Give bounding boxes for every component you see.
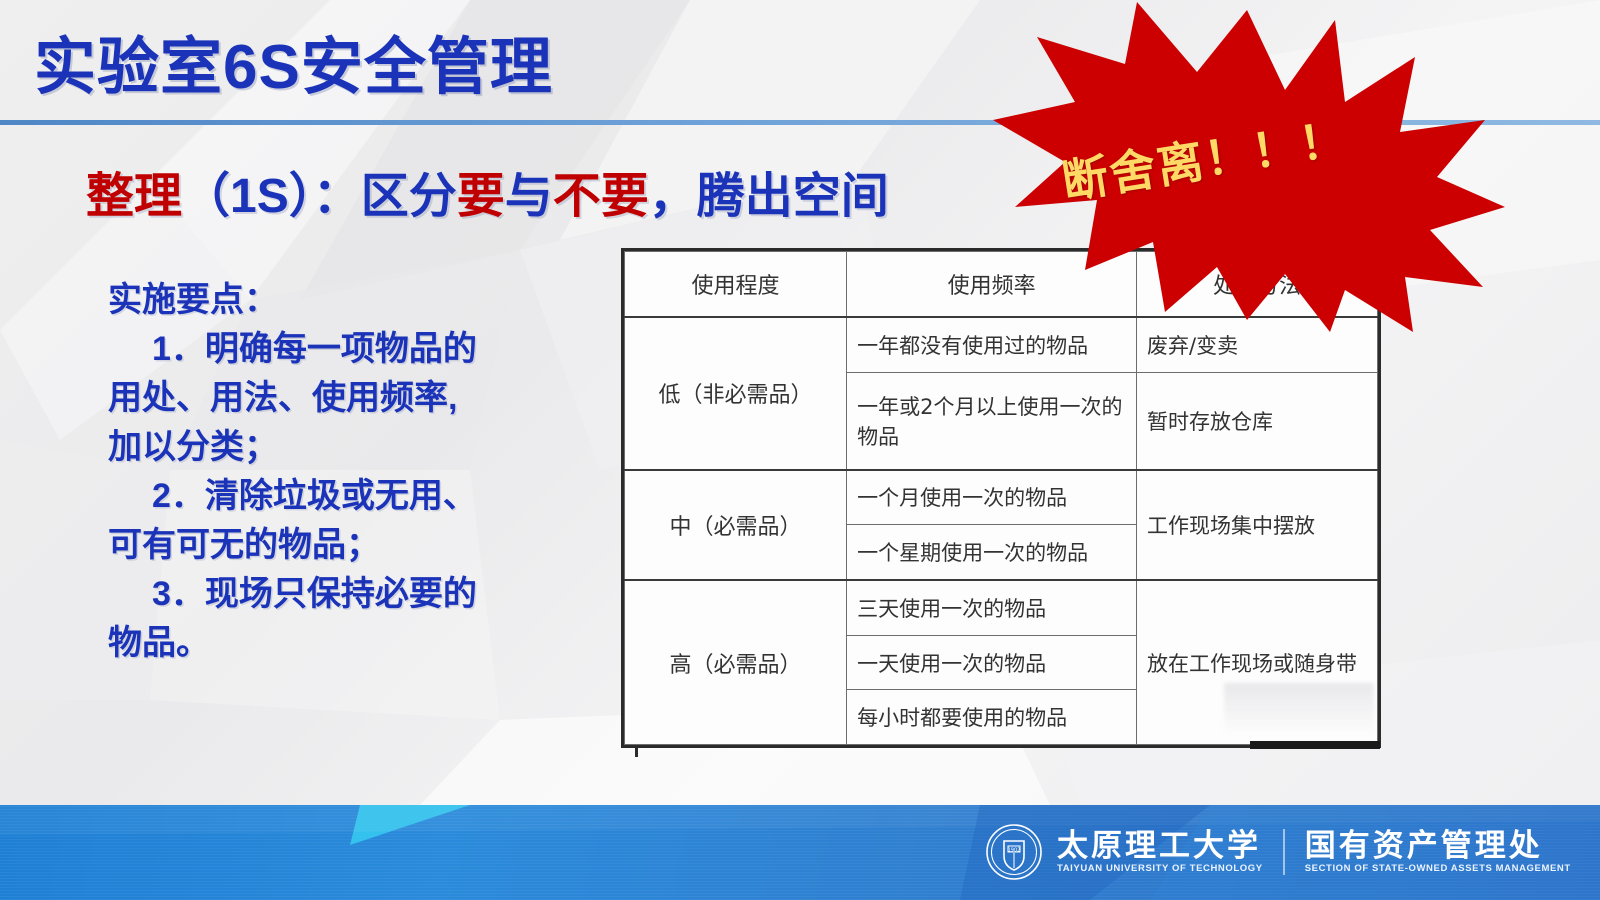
implementation-points: 实施要点： 1．明确每一项物品的 用处、用法、使用频率, 加以分类； 2．清除垃… [108, 276, 578, 668]
level-mid: 中（必需品） [625, 470, 847, 581]
level-low: 低（非必需品） [625, 317, 847, 470]
department-name-cn: 国有资产管理处 [1305, 829, 1571, 863]
freq-high-2: 一天使用一次的物品 [847, 635, 1137, 690]
page-title: 实验室6S安全管理 [34, 16, 553, 106]
body-heading: 实施要点： [108, 276, 578, 325]
footer-brand: 1902 太原理工大学 TAIYUAN UNIVERSITY OF TECHNO… [985, 821, 1571, 883]
freq-high-3: 每小时都要使用的物品 [847, 690, 1137, 745]
university-name-block: 太原理工大学 TAIYUAN UNIVERSITY OF TECHNOLOGY [1057, 829, 1263, 875]
subtitle: 整理（1S）：区分要与不要，腾出空间 [86, 156, 889, 226]
freq-low-2: 一年或2个月以上使用一次的物品 [847, 372, 1137, 469]
department-name-block: 国有资产管理处 SECTION OF STATE-OWNED ASSETS MA… [1305, 829, 1571, 875]
subtitle-seg-2: 要 [457, 170, 505, 223]
subtitle-seg-0: 整理 [86, 170, 182, 223]
body-line-5: 可有可无的物品； [108, 521, 578, 570]
department-name-en: SECTION OF STATE-OWNED ASSETS MANAGEMENT [1305, 863, 1571, 875]
level-high: 高（必需品） [625, 580, 847, 744]
scan-tick-artifact [635, 745, 638, 757]
action-low-2: 暂时存放仓库 [1137, 372, 1378, 469]
freq-high-1: 三天使用一次的物品 [847, 580, 1137, 635]
svg-text:1902: 1902 [1008, 847, 1021, 853]
subtitle-seg-3: 与 [505, 170, 553, 223]
body-line-4: 2．清除垃圾或无用、 [108, 472, 578, 521]
footer-bar: 1902 太原理工大学 TAIYUAN UNIVERSITY OF TECHNO… [0, 805, 1600, 900]
university-name-en: TAIYUAN UNIVERSITY OF TECHNOLOGY [1057, 863, 1263, 875]
subtitle-seg-5: ，腾出空间 [649, 170, 889, 223]
university-emblem-icon: 1902 [985, 823, 1043, 881]
body-line-3: 加以分类； [108, 423, 578, 472]
subtitle-seg-1: （1S）：区分 [182, 170, 457, 223]
table-row: 高（必需品） 三天使用一次的物品 放在工作现场或随身带 [625, 580, 1378, 635]
slide-canvas: 实验室6S安全管理 整理（1S）：区分要与不要，腾出空间 实施要点： 1．明确每… [0, 0, 1600, 900]
action-mid: 工作现场集中摆放 [1137, 470, 1378, 581]
freq-mid-1: 一个月使用一次的物品 [847, 470, 1137, 525]
action-high: 放在工作现场或随身带 [1137, 580, 1378, 744]
subtitle-seg-4: 不要 [553, 170, 649, 223]
body-line-1: 1．明确每一项物品的 [108, 325, 578, 374]
table-row: 中（必需品） 一个月使用一次的物品 工作现场集中摆放 [625, 470, 1378, 525]
body-line-6: 3．现场只保持必要的 [108, 570, 578, 619]
university-name-cn: 太原理工大学 [1057, 829, 1263, 863]
freq-mid-2: 一个星期使用一次的物品 [847, 525, 1137, 580]
body-line-2: 用处、用法、使用频率, [108, 374, 578, 423]
body-line-7: 物品。 [108, 619, 578, 668]
brand-divider [1283, 829, 1285, 875]
col-header-level: 使用程度 [625, 252, 847, 318]
